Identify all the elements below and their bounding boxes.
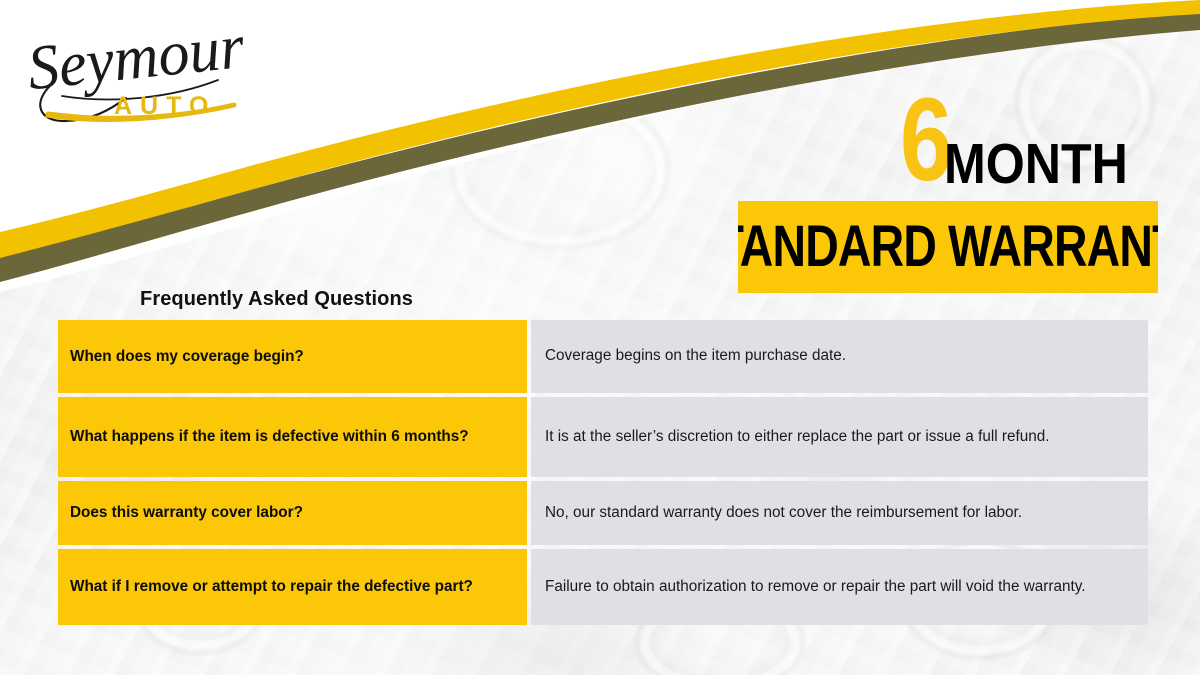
faq-question: When does my coverage begin? xyxy=(58,320,527,393)
faq-answer-text: No, our standard warranty does not cover… xyxy=(545,503,1134,523)
faq-row: When does my coverage begin? Coverage be… xyxy=(58,320,1148,393)
faq-table: When does my coverage begin? Coverage be… xyxy=(58,320,1148,625)
faq-row: What if I remove or attempt to repair th… xyxy=(58,549,1148,625)
brand-subname: AUTO xyxy=(114,92,216,120)
faq-heading: Frequently Asked Questions xyxy=(140,288,413,311)
slide-canvas: Seymour AUTO 6 MONTH STANDARD WARRANTY F… xyxy=(0,0,1200,675)
faq-question: What if I remove or attempt to repair th… xyxy=(58,549,527,625)
duration-unit: MONTH xyxy=(944,141,1128,190)
faq-question: Does this warranty cover labor? xyxy=(58,481,527,545)
faq-answer-text: Coverage begins on the item purchase dat… xyxy=(545,346,1134,366)
faq-answer: Coverage begins on the item purchase dat… xyxy=(531,320,1148,393)
faq-row: Does this warranty cover labor? No, our … xyxy=(58,481,1148,545)
faq-question: What happens if the item is defective wi… xyxy=(58,397,527,477)
warranty-banner-title: STANDARD WARRANTY xyxy=(738,218,1158,276)
faq-row: What happens if the item is defective wi… xyxy=(58,397,1148,477)
standard-warranty-banner: STANDARD WARRANTY xyxy=(738,201,1158,293)
faq-answer: It is at the seller’s discretion to eith… xyxy=(531,397,1148,477)
faq-answer-text: Failure to obtain authorization to remov… xyxy=(545,577,1134,597)
engine-pulley-shape xyxy=(455,95,665,245)
warranty-duration: 6 MONTH xyxy=(900,78,1170,190)
brand-name-script: Seymour xyxy=(24,18,248,103)
brand-logo-artwork: Seymour AUTO xyxy=(22,18,282,128)
faq-answer: Failure to obtain authorization to remov… xyxy=(531,549,1148,625)
faq-answer: No, our standard warranty does not cover… xyxy=(531,481,1148,545)
faq-answer-text: It is at the seller’s discretion to eith… xyxy=(545,427,1134,447)
brand-logo[interactable]: Seymour AUTO xyxy=(22,18,282,128)
